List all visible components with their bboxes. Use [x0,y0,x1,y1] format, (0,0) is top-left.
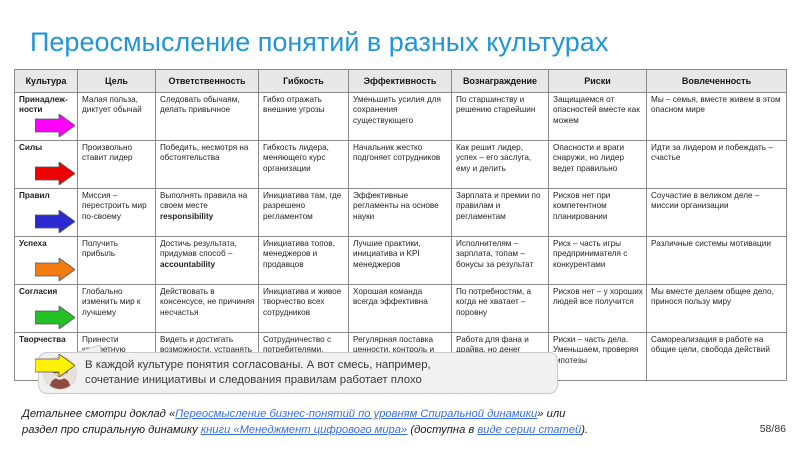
cell-involvement: Идти за лидером и побеждать – счастье [647,141,787,189]
footer-text-5: ). [581,424,588,436]
cell-responsibility: Следовать обычаям, делать привычное [156,93,259,141]
cell-reward: Зарплата и премии по правилам и регламен… [452,189,549,237]
cell-reward: Исполнителям – зарплата, топам – бонусы … [452,237,549,285]
column-header-effectiveness: Эффективность [349,70,452,93]
culture-label: Творчества [19,335,74,345]
cell-effectiveness: Начальник жестко подгоняет сотрудников [349,141,452,189]
cell-reward: Как решит лидер, успех – его заслуга, ем… [452,141,549,189]
cell-text: Достичь результата, придумав способ – [160,239,237,258]
page-title: Переосмысление понятий в разных культура… [30,26,608,58]
table-row: Успеха Получить прибыль Достичь результа… [15,237,787,285]
arrow-right-icon [35,210,75,233]
cell-involvement: Различные системы мотивации [647,237,787,285]
culture-name-cell: Творчества [15,333,78,381]
callout-line-2: сочетание инициативы и следования правил… [85,374,422,386]
cell-involvement: Соучастие в великом деле – миссии органи… [647,189,787,237]
cell-reward: По потребностям, а когда не хватает – по… [452,285,549,333]
cell-goal: Миссия – перестроить мир по-своему [78,189,156,237]
cell-goal: Произвольно ставит лидер [78,141,156,189]
cell-flexibility: Инициатива и живое творчество всех сотру… [259,285,349,333]
callout-line-1: В каждой культуре понятия согласованы. А… [85,359,431,371]
cell-reward: По старшинству и решению старейшин [452,93,549,141]
culture-label: Успеха [19,239,74,249]
column-header-culture: Культура [15,70,78,93]
arrow-right-icon [35,258,75,281]
column-header-involvement: Вовлеченность [647,70,787,93]
culture-label: Согласия [19,287,74,297]
cell-text-emphasis: accountability [160,260,215,269]
column-header-flexibility: Гибкость [259,70,349,93]
footer-text-1: Детальнее смотри доклад « [22,408,175,420]
footer-text-2: » или [537,408,565,420]
culture-name-cell: Успеха [15,237,78,285]
table-header-row: Культура Цель Ответственность Гибкость Э… [15,70,787,93]
callout-text: В каждой культуре понятия согласованы. А… [85,358,437,388]
cell-risks: Рисков нет при компетентном планировании [549,189,647,237]
cell-risks: Защищаемся от опасностей вместе как може… [549,93,647,141]
cell-flexibility: Гибкость лидера, меняющего курс организа… [259,141,349,189]
cell-text-emphasis: responsibility [160,212,213,221]
cell-flexibility: Инициатива топов, менеджеров и продавцов [259,237,349,285]
cell-risks: Опасности и враги снаружи, но лидер веде… [549,141,647,189]
cell-responsibility: Достичь результата, придумав способ – ac… [156,237,259,285]
culture-name-cell: Согласия [15,285,78,333]
table-body: Принадлеж-ности Малая польза, диктует об… [15,93,787,381]
table-row: Силы Произвольно ставит лидер Победить, … [15,141,787,189]
cell-effectiveness: Уменьшить усилия для сохранения существу… [349,93,452,141]
table-row: Принадлеж-ности Малая польза, диктует об… [15,93,787,141]
column-header-responsibility: Ответственность [156,70,259,93]
cell-involvement: Мы – семья, вместе живем в этом опасном … [647,93,787,141]
arrow-right-icon [35,162,75,185]
cell-risks: Риски – часть дела. Уменьшаем, проверяя … [549,333,647,381]
cell-goal: Глобально изменить мир к лучшему [78,285,156,333]
page-number: 58/86 [760,423,786,435]
culture-matrix-table: Культура Цель Ответственность Гибкость Э… [14,69,787,381]
arrow-right-icon [35,354,75,377]
speaker-note-callout: В каждой культуре понятия согласованы. А… [38,352,558,394]
footer-text-4: (доступна в [407,424,477,436]
table-row: Правил Миссия – перестроить мир по-своем… [15,189,787,237]
cell-effectiveness: Лучшие практики, инициатива и KPI менедж… [349,237,452,285]
cell-flexibility: Гибко отражать внешние угрозы [259,93,349,141]
cell-effectiveness: Эффективные регламенты на основе науки [349,189,452,237]
culture-name-cell: Принадлеж-ности [15,93,78,141]
column-header-risks: Риски [549,70,647,93]
link-article-series[interactable]: виде серии статей [477,424,581,436]
arrow-right-icon [35,306,75,329]
cell-involvement: Мы вместе делаем общее дело, принося пол… [647,285,787,333]
cell-risks: Рисков нет – у хороших людей все получит… [549,285,647,333]
culture-matrix-table-wrapper: Культура Цель Ответственность Гибкость Э… [14,69,786,381]
footer-text-3: раздел про спиральную динамику [22,424,201,436]
culture-label: Принадлеж-ности [19,95,74,116]
culture-label: Правил [19,191,74,201]
cell-responsibility: Выполнять правила на своем месте respons… [156,189,259,237]
cell-involvement: Самореализация в работе на общие цели, с… [647,333,787,381]
cell-responsibility: Победить, несмотря на обстоятельства [156,141,259,189]
cell-risks: Риск – часть игры предпринимателя с конк… [549,237,647,285]
arrow-right-icon [35,114,75,137]
column-header-reward: Вознаграждение [452,70,549,93]
cell-responsibility: Действовать в консенсусе, не причиняя не… [156,285,259,333]
culture-name-cell: Силы [15,141,78,189]
cell-text: Выполнять правила на своем месте [160,191,247,210]
column-header-goal: Цель [78,70,156,93]
table-row: Согласия Глобально изменить мир к лучшем… [15,285,787,333]
link-digital-world-management-book[interactable]: книги «Менеджмент цифрового мира» [201,424,407,436]
cell-goal: Получить прибыль [78,237,156,285]
link-spiral-dynamics-report[interactable]: Переосмысление бизнес-понятий по уровням… [175,408,537,420]
culture-name-cell: Правил [15,189,78,237]
cell-flexibility: Инициатива там, где разрешено регламенто… [259,189,349,237]
culture-label: Силы [19,143,74,153]
footer-note: Детальнее смотри доклад «Переосмысление … [22,406,722,438]
cell-goal: Малая польза, диктует обычай [78,93,156,141]
cell-effectiveness-highlighted: Хорошая команда всегда эффективна [349,285,452,333]
